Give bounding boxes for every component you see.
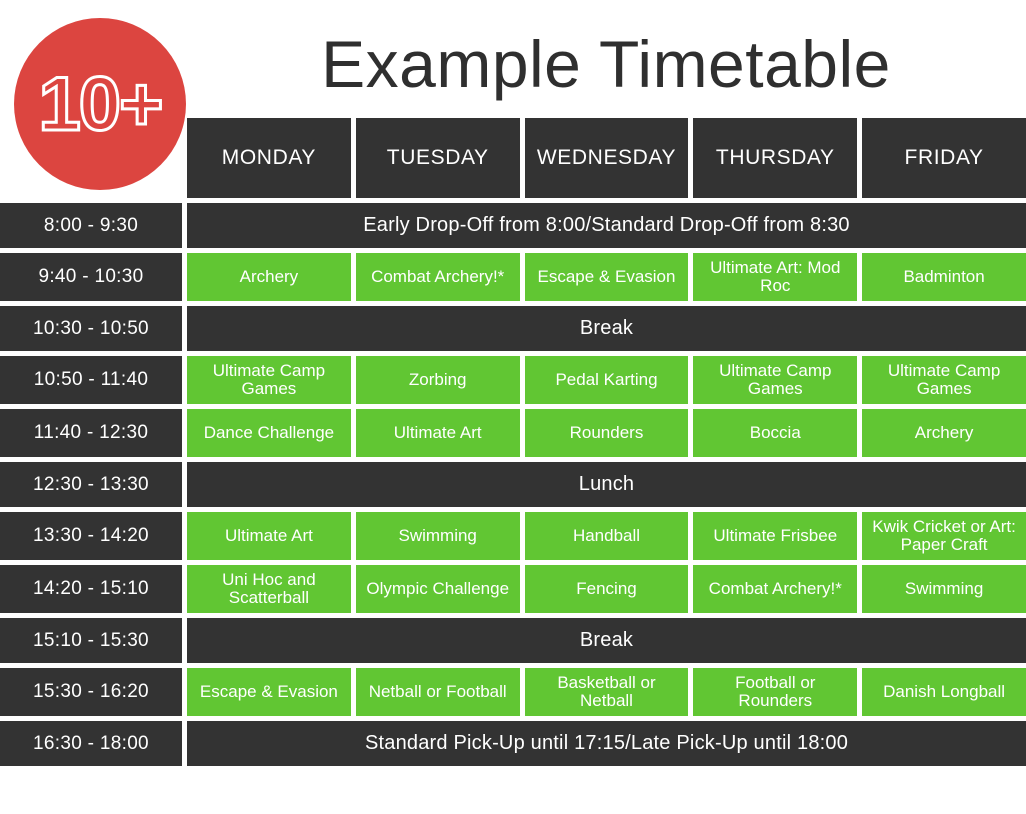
time-label: 15:10 - 15:30 bbox=[0, 618, 182, 663]
activity-cell[interactable]: Zorbing bbox=[356, 356, 520, 404]
activity-cell[interactable]: Ultimate Art: Mod Roc bbox=[693, 253, 857, 301]
banner-text: Break bbox=[187, 306, 1026, 351]
time-label: 11:40 - 12:30 bbox=[0, 409, 182, 457]
day-header-tuesday: TUESDAY bbox=[356, 118, 520, 198]
banner-text: Standard Pick-Up until 17:15/Late Pick-U… bbox=[187, 721, 1026, 766]
activity-cell[interactable]: Netball or Football bbox=[356, 668, 520, 716]
day-header-thursday: THURSDAY bbox=[693, 118, 857, 198]
time-label: 12:30 - 13:30 bbox=[0, 462, 182, 507]
timetable-row: 14:20 - 15:10 Uni Hoc and Scatterball Ol… bbox=[0, 565, 1026, 613]
banner-text: Early Drop-Off from 8:00/Standard Drop-O… bbox=[187, 203, 1026, 248]
activity-cell[interactable]: Swimming bbox=[862, 565, 1026, 613]
activity-cell[interactable]: Ultimate Camp Games bbox=[187, 356, 351, 404]
timetable-row: 15:10 - 15:30 Break bbox=[0, 618, 1026, 663]
activity-cell[interactable]: Danish Longball bbox=[862, 668, 1026, 716]
activity-cell[interactable]: Combat Archery!* bbox=[693, 565, 857, 613]
timetable-row: 11:40 - 12:30 Dance Challenge Ultimate A… bbox=[0, 409, 1026, 457]
time-label: 14:20 - 15:10 bbox=[0, 565, 182, 613]
activity-cell[interactable]: Fencing bbox=[525, 565, 689, 613]
activity-cell[interactable]: Basketball or Netball bbox=[525, 668, 689, 716]
time-label: 13:30 - 14:20 bbox=[0, 512, 182, 560]
activity-cell[interactable]: Football or Rounders bbox=[693, 668, 857, 716]
activity-cell[interactable]: Rounders bbox=[525, 409, 689, 457]
activity-cell[interactable]: Escape & Evasion bbox=[525, 253, 689, 301]
time-label: 8:00 - 9:30 bbox=[0, 203, 182, 248]
day-header-friday: FRIDAY bbox=[862, 118, 1026, 198]
time-label: 9:40 - 10:30 bbox=[0, 253, 182, 301]
activity-cell[interactable]: Pedal Karting bbox=[525, 356, 689, 404]
time-label: 16:30 - 18:00 bbox=[0, 721, 182, 766]
day-header-row: MONDAY TUESDAY WEDNESDAY THURSDAY FRIDAY bbox=[0, 118, 1026, 198]
time-label: 15:30 - 16:20 bbox=[0, 668, 182, 716]
activity-cell[interactable]: Ultimate Camp Games bbox=[862, 356, 1026, 404]
time-label: 10:50 - 11:40 bbox=[0, 356, 182, 404]
activity-cell[interactable]: Ultimate Art bbox=[187, 512, 351, 560]
timetable-row: 15:30 - 16:20 Escape & Evasion Netball o… bbox=[0, 668, 1026, 716]
banner-text: Break bbox=[187, 618, 1026, 663]
timetable-row: 13:30 - 14:20 Ultimate Art Swimming Hand… bbox=[0, 512, 1026, 560]
time-label: 10:30 - 10:50 bbox=[0, 306, 182, 351]
activity-cell[interactable]: Ultimate Art bbox=[356, 409, 520, 457]
activity-cell[interactable]: Ultimate Frisbee bbox=[693, 512, 857, 560]
timetable-row: 16:30 - 18:00 Standard Pick-Up until 17:… bbox=[0, 721, 1026, 766]
timetable-row: 8:00 - 9:30 Early Drop-Off from 8:00/Sta… bbox=[0, 203, 1026, 248]
timetable-row: 12:30 - 13:30 Lunch bbox=[0, 462, 1026, 507]
activity-cell[interactable]: Archery bbox=[187, 253, 351, 301]
activity-cell[interactable]: Handball bbox=[525, 512, 689, 560]
activity-cell[interactable]: Olympic Challenge bbox=[356, 565, 520, 613]
timetable-row: 10:30 - 10:50 Break bbox=[0, 306, 1026, 351]
page-title: Example Timetable bbox=[188, 16, 1024, 112]
activity-cell[interactable]: Combat Archery!* bbox=[356, 253, 520, 301]
activity-cell[interactable]: Badminton bbox=[862, 253, 1026, 301]
activity-cell[interactable]: Dance Challenge bbox=[187, 409, 351, 457]
day-header-monday: MONDAY bbox=[187, 118, 351, 198]
activity-cell[interactable]: Archery bbox=[862, 409, 1026, 457]
day-header-wednesday: WEDNESDAY bbox=[525, 118, 689, 198]
activity-cell[interactable]: Swimming bbox=[356, 512, 520, 560]
activity-cell[interactable]: Boccia bbox=[693, 409, 857, 457]
timetable-row: 9:40 - 10:30 Archery Combat Archery!* Es… bbox=[0, 253, 1026, 301]
timetable-grid: MONDAY TUESDAY WEDNESDAY THURSDAY FRIDAY… bbox=[0, 118, 1026, 771]
timetable-row: 10:50 - 11:40 Ultimate Camp Games Zorbin… bbox=[0, 356, 1026, 404]
activity-cell[interactable]: Escape & Evasion bbox=[187, 668, 351, 716]
banner-text: Lunch bbox=[187, 462, 1026, 507]
activity-cell[interactable]: Uni Hoc and Scatterball bbox=[187, 565, 351, 613]
header-corner-spacer bbox=[0, 118, 182, 198]
activity-cell[interactable]: Ultimate Camp Games bbox=[693, 356, 857, 404]
activity-cell[interactable]: Kwik Cricket or Art: Paper Craft bbox=[862, 512, 1026, 560]
